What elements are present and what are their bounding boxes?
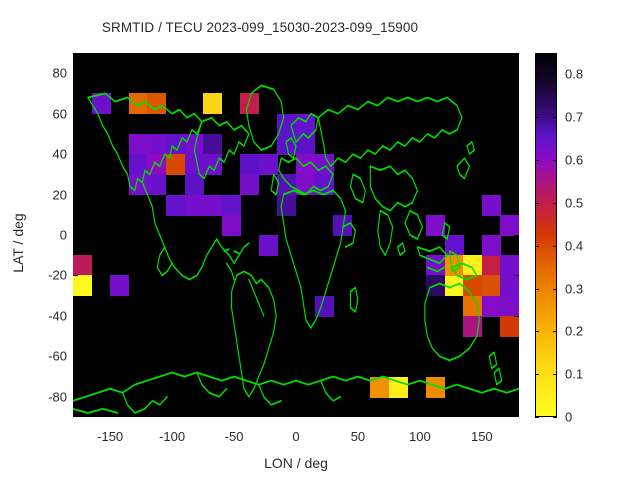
tick-mark [172,53,173,58]
heatmap-cell [92,93,111,114]
heatmap-cell [166,154,185,175]
tick-mark [514,356,519,357]
tick-mark [482,412,483,417]
tick-mark [553,117,557,118]
heatmap-cell [185,134,204,155]
tick-mark [514,316,519,317]
y-tick-label: -20 [31,268,67,283]
tick-mark [553,289,557,290]
tick-mark [358,412,359,417]
x-tick-label: -50 [225,429,244,444]
heatmap-cell [445,235,464,256]
heatmap-cell [277,134,296,155]
y-tick-label: 80 [31,66,67,81]
tick-mark [535,160,539,161]
tick-mark [482,53,483,58]
tick-mark [514,397,519,398]
colorbar-tick-label: 0.7 [565,110,583,125]
colorbar-tick-label: 0.6 [565,153,583,168]
heatmap-cell [203,154,222,175]
heatmap-cell [463,255,482,276]
heatmap-cell [296,154,315,175]
tick-mark [110,412,111,417]
heatmap-cell [240,93,259,114]
heatmap-cell [500,316,519,337]
heatmap-cell [277,195,296,216]
heatmap-cell [185,174,204,195]
x-tick-label: 100 [409,429,431,444]
colorbar-tick-label: 0.2 [565,324,583,339]
heatmap-cell [129,93,148,114]
heatmap-cell [482,235,501,256]
heatmap-cell [147,134,166,155]
heatmap-cell [240,154,259,175]
y-tick-label: -60 [31,349,67,364]
tick-mark [172,412,173,417]
tick-mark [358,53,359,58]
heatmap-cell [129,134,148,155]
heatmap-cell [463,275,482,296]
tick-mark [514,195,519,196]
tick-mark [553,417,557,418]
heatmap-cell [185,195,204,216]
tick-mark [553,160,557,161]
heatmap-cell [129,154,148,175]
colorbar-tick-label: 0.3 [565,281,583,296]
heatmap-cell [73,275,92,296]
tick-mark [553,246,557,247]
x-tick-label: 50 [351,429,365,444]
heatmap-cell [240,174,259,195]
heatmap-cell [73,255,92,276]
tick-mark [535,374,539,375]
heatmap-cell [222,195,241,216]
heatmap-cell [315,174,334,195]
tick-mark [514,114,519,115]
tick-mark [110,53,111,58]
heatmap-cell [203,195,222,216]
tick-mark [73,114,78,115]
tick-mark [535,117,539,118]
tick-mark [535,203,539,204]
heatmap-cell [110,275,129,296]
heatmap-cell [296,174,315,195]
tick-mark [420,53,421,58]
tick-mark [535,331,539,332]
tick-mark [535,74,539,75]
heatmap-cell [259,235,278,256]
y-tick-label: -40 [31,308,67,323]
heatmap-cell [445,275,464,296]
x-tick-label: 150 [471,429,493,444]
heatmap-cell [389,377,408,398]
heatmap-cell [129,174,148,195]
colorbar [535,53,557,417]
tick-mark [514,73,519,74]
heatmap-cell [147,174,166,195]
tick-mark [553,74,557,75]
colorbar-tick-label: 0.8 [565,67,583,82]
heatmap-cell [147,93,166,114]
heatmap-cell [426,215,445,236]
heatmap-cell [277,174,296,195]
tick-mark [514,275,519,276]
y-tick-label: 60 [31,106,67,121]
tick-mark [296,412,297,417]
heatmap-cell [482,255,501,276]
tick-mark [73,397,78,398]
heatmap-cell [426,255,445,276]
tick-mark [73,154,78,155]
heatmap-cell [426,275,445,296]
heatmap-cell [500,215,519,236]
tick-mark [553,374,557,375]
colorbar-tick-label: 0 [565,410,572,425]
x-tick-label: -100 [159,429,185,444]
heatmap-cell [203,134,222,155]
heatmap-cell [482,296,501,317]
heatmap-cell [203,93,222,114]
heatmap-cell [370,377,389,398]
x-tick-label: -150 [97,429,123,444]
y-tick-label: 40 [31,147,67,162]
y-tick-label: -80 [31,389,67,404]
colorbar-tick-label: 0.4 [565,238,583,253]
heatmap-cell [500,255,519,276]
heatmap-cell [277,114,296,135]
tick-mark [553,203,557,204]
heatmap-cell [147,154,166,175]
heatmap-cell [463,296,482,317]
tick-mark [73,275,78,276]
tick-mark [234,53,235,58]
heatmap-cell [166,195,185,216]
chart-title: SRMTID / TECU 2023-099_15030-2023-099_15… [0,20,520,35]
heatmap-cell [185,154,204,175]
heatmap-cell [445,255,464,276]
colorbar-gradient [536,54,556,416]
heatmap-cell [500,275,519,296]
tick-mark [296,53,297,58]
heatmap-cell [315,296,334,317]
map-plot-area[interactable] [73,53,519,417]
heatmap-cell [482,275,501,296]
tick-mark [73,356,78,357]
tick-mark [73,73,78,74]
tick-mark [553,331,557,332]
x-tick-label: 0 [292,429,299,444]
heatmap-cell [259,154,278,175]
heatmap-cell [296,134,315,155]
heatmap-cell [296,114,315,135]
heatmap-cell [500,296,519,317]
tick-mark [535,417,539,418]
heatmap-cell [333,215,352,236]
colorbar-tick-label: 0.5 [565,195,583,210]
heatmap-cell [463,316,482,337]
tick-mark [73,235,78,236]
y-tick-label: 20 [31,187,67,202]
tick-mark [514,154,519,155]
y-axis-label: LAT / deg [10,183,26,303]
tick-mark [535,246,539,247]
y-tick-label: 0 [31,228,67,243]
x-axis-label: LON / deg [73,455,519,471]
tick-mark [234,412,235,417]
tick-mark [420,412,421,417]
heatmap-cell [426,377,445,398]
heatmap-cell-layer [73,53,519,417]
heatmap-cell [482,195,501,216]
tick-mark [514,235,519,236]
tick-mark [73,316,78,317]
heatmap-cell [166,134,185,155]
colorbar-tick-label: 0.1 [565,367,583,382]
tick-mark [73,195,78,196]
tick-mark [535,289,539,290]
figure-canvas: SRMTID / TECU 2023-099_15030-2023-099_15… [0,0,640,480]
heatmap-cell [315,154,334,175]
heatmap-cell [222,215,241,236]
